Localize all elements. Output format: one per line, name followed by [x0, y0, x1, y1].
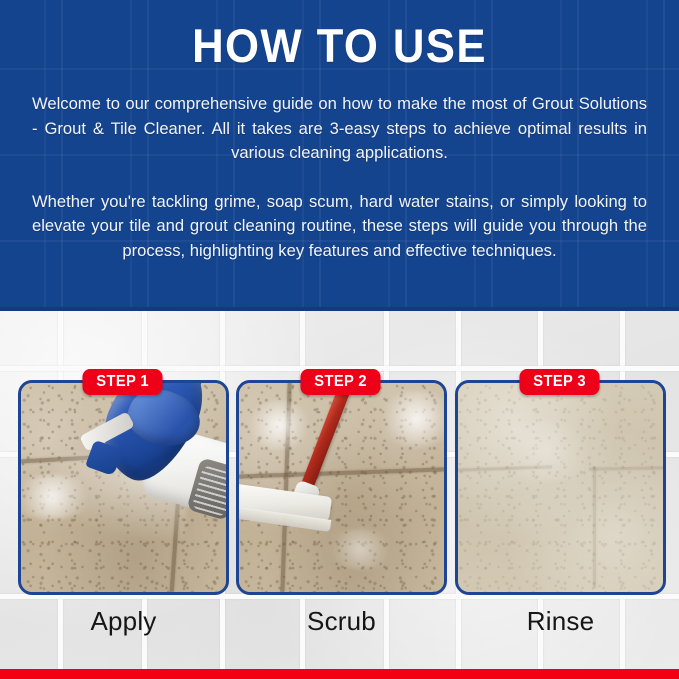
step-badge-3: STEP 3 [519, 369, 599, 395]
intro-paragraph-1: Welcome to our comprehensive guide on ho… [32, 92, 647, 166]
header-panel: HOW TO USE Welcome to our comprehensive … [0, 0, 679, 311]
step-badge-2: STEP 2 [300, 369, 380, 395]
tile-speckle-texture [458, 383, 663, 592]
step-label-rinse: Rinse [455, 604, 666, 638]
page-title: HOW TO USE [24, 22, 655, 69]
step-card-2[interactable] [236, 380, 447, 595]
header-body-copy: Welcome to our comprehensive guide on ho… [32, 92, 647, 263]
step-label-scrub: Scrub [236, 604, 447, 638]
step-label-apply: Apply [18, 604, 229, 638]
step-badge-1: STEP 1 [82, 369, 162, 395]
step-card-1[interactable] [18, 380, 229, 595]
step-3-photo [458, 383, 663, 592]
footer-accent-bar [0, 669, 679, 679]
floor-grout-line [593, 467, 596, 588]
step-2-photo [239, 383, 444, 592]
sheen-highlight [499, 421, 595, 481]
step-card-3[interactable] [455, 380, 666, 595]
how-to-use-infographic: HOW TO USE Welcome to our comprehensive … [0, 0, 679, 679]
step-1-photo [21, 383, 226, 592]
wet-sheen-highlight [247, 400, 311, 450]
intro-paragraph-2: Whether you're tackling grime, soap scum… [32, 190, 647, 264]
